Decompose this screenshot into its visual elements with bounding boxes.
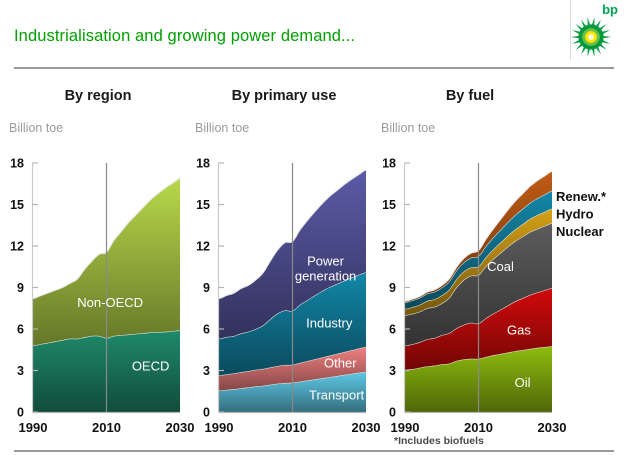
y-axis-tick-6: 6 [203, 323, 210, 337]
y-axis-tick-18: 18 [196, 157, 210, 171]
x-axis-tick-2010: 2010 [464, 420, 493, 435]
y-axis-tick-18: 18 [382, 157, 396, 171]
x-axis-tick-1990: 1990 [391, 420, 420, 435]
y-axis-tick-15: 15 [196, 198, 210, 212]
chart-plot-by-fuel: 0369121518199020102030OilGasCoalRenew.*H… [372, 80, 628, 450]
series-label-transport: Transport [309, 388, 365, 403]
series-label-non-oecd: Non-OECD [77, 295, 143, 310]
chart-plot-by-region: 0369121518199020102030OECDNon-OECD [0, 80, 196, 450]
y-axis-tick-9: 9 [203, 281, 210, 295]
header-divider [14, 67, 614, 69]
y-axis-tick-12: 12 [10, 240, 24, 254]
series-label-coal: Coal [487, 259, 514, 274]
page-title: Industrialisation and growing power dema… [14, 27, 355, 46]
y-axis-tick-0: 0 [389, 406, 396, 420]
y-axis-tick-12: 12 [196, 240, 210, 254]
y-axis-tick-9: 9 [389, 281, 396, 295]
series-label-gas: Gas [507, 323, 531, 338]
x-axis-tick-2010: 2010 [278, 420, 307, 435]
y-axis-tick-3: 3 [17, 364, 24, 378]
bp-wordmark: bp [602, 3, 618, 16]
x-axis-tick-2030: 2030 [538, 420, 567, 435]
bp-logo: bp [568, 2, 620, 58]
series-label-industry: Industry [306, 316, 353, 331]
y-axis-tick-3: 3 [389, 364, 396, 378]
series-label-power-generation: generation [295, 268, 356, 283]
y-axis-tick-15: 15 [382, 198, 396, 212]
chart-panel-by-primary-use: By primary use Billion toe 0369121518199… [186, 80, 382, 450]
y-axis-tick-0: 0 [17, 406, 24, 420]
series-label-oecd: OECD [132, 359, 170, 374]
x-axis-tick-2010: 2010 [92, 420, 121, 435]
bp-helios-sunburst-icon [570, 16, 612, 58]
y-axis-tick-15: 15 [10, 198, 24, 212]
chart-footnote: *Includes biofuels [394, 435, 484, 447]
slide-root: Industrialisation and growing power dema… [0, 0, 628, 460]
y-axis-tick-3: 3 [203, 364, 210, 378]
series-label-hydro: Hydro [556, 206, 594, 221]
series-label-oil: Oil [515, 375, 531, 390]
series-label-power-generation: Power [307, 253, 345, 268]
series-label-nuclear: Nuclear [556, 224, 604, 239]
x-axis-tick-1990: 1990 [205, 420, 234, 435]
series-label-other: Other [324, 356, 357, 371]
x-axis-tick-1990: 1990 [19, 420, 48, 435]
footer-divider [14, 450, 614, 452]
chart-panel-by-region: By region Billion toe 036912151819902010… [0, 80, 196, 450]
series-label-renew-: Renew.* [556, 189, 607, 204]
y-axis-tick-18: 18 [10, 157, 24, 171]
y-axis-tick-9: 9 [17, 281, 24, 295]
chart-plot-by-primary-use: 0369121518199020102030TransportOtherIndu… [186, 80, 382, 450]
chart-panel-by-fuel: By fuel Billion toe 03691215181990201020… [372, 80, 628, 450]
y-axis-tick-0: 0 [203, 406, 210, 420]
y-axis-tick-12: 12 [382, 240, 396, 254]
y-axis-tick-6: 6 [17, 323, 24, 337]
y-axis-tick-6: 6 [389, 323, 396, 337]
